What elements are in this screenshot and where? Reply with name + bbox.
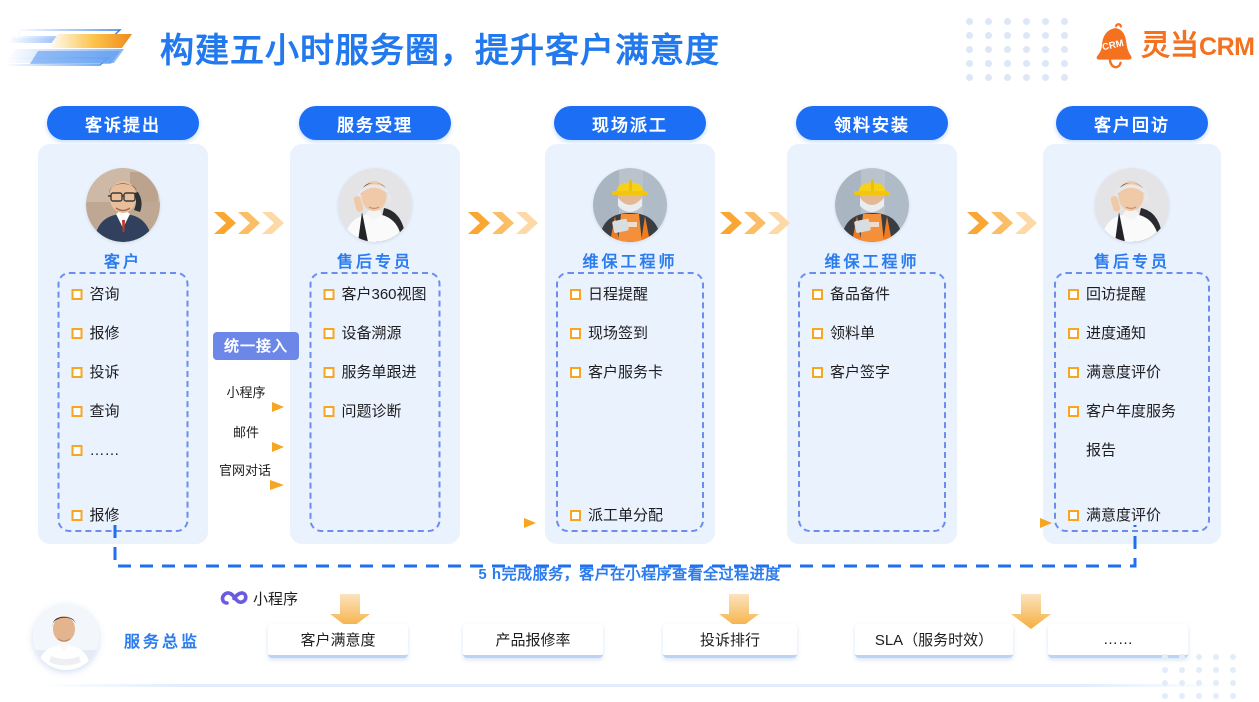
avatar-support-agent-2: [1095, 168, 1169, 242]
checkbox-icon: [1068, 328, 1079, 339]
column-panel-4: 维保工程师 备品备件 领料单 客户签字: [787, 144, 957, 544]
checkbox-icon: [324, 328, 335, 339]
bottom-divider: [40, 684, 1220, 687]
stage-title-2[interactable]: 服务受理: [299, 106, 451, 140]
list-item-bottom[interactable]: 满意度评价: [1068, 506, 1161, 526]
kpi-metric-1[interactable]: 客户满意度: [268, 624, 408, 658]
bell-crm-icon: CRM: [1093, 23, 1137, 69]
avatar-customer: [86, 168, 160, 242]
dot-grid-decoration-bottom: [1162, 654, 1259, 702]
channel-label: 邮件: [220, 422, 272, 441]
list-item[interactable]: ……: [72, 441, 120, 461]
list-item-label: 日程提醒: [588, 285, 648, 305]
task-list-box-5: 回访提醒 进度通知 满意度评价 客户年度服务 报告 满意度评价: [1054, 272, 1210, 532]
list-item-label: 进度通知: [1086, 324, 1146, 344]
flow-column-3: 现场派工: [545, 100, 715, 140]
column-panel-1: 客户 咨询 报修 投诉 查询 …… 报修: [38, 144, 208, 544]
page-header: 构建五小时服务圈，提升客户满意度 CRM 灵当CRM: [0, 0, 1259, 96]
avatar-service-director: [33, 604, 99, 670]
checkbox-icon: [812, 367, 823, 378]
list-item[interactable]: 问题诊断: [324, 402, 402, 422]
role-label-3: 维保工程师: [545, 248, 715, 272]
list-item-label: 满意度评价: [1086, 506, 1161, 526]
kpi-metric-3[interactable]: 投诉排行: [663, 624, 797, 658]
flow-column-5: 客户回访: [1043, 100, 1221, 140]
task-list-box-2: 客户360视图 设备溯源 服务单跟进 问题诊断: [310, 272, 441, 532]
decorative-stripes: [8, 18, 148, 78]
checkbox-icon: [324, 289, 335, 300]
channel-3: 官网对话: [206, 460, 286, 491]
list-item-label: 设备溯源: [342, 324, 402, 344]
list-item[interactable]: 客户服务卡: [570, 363, 663, 383]
list-item-label: 问题诊断: [342, 402, 402, 422]
checkbox-icon: [72, 510, 83, 521]
checkbox-icon: [1068, 289, 1079, 300]
list-item-label: 派工单分配: [588, 506, 663, 526]
list-item-label: 满意度评价: [1086, 363, 1161, 383]
list-item[interactable]: 备品备件: [812, 285, 890, 305]
checkbox-icon: [812, 289, 823, 300]
list-item-label: 投诉: [90, 363, 120, 383]
list-item[interactable]: 客户年度服务: [1068, 402, 1176, 422]
list-item[interactable]: 投诉: [72, 363, 120, 383]
channel-label: 小程序: [214, 382, 278, 401]
stage-title-3[interactable]: 现场派工: [554, 106, 706, 140]
checkbox-icon: [72, 445, 83, 456]
stage-title-5[interactable]: 客户回访: [1056, 106, 1208, 140]
page-title: 构建五小时服务圈，提升客户满意度: [160, 23, 720, 72]
chevron-group-4: [965, 210, 1043, 236]
checkbox-icon: [812, 328, 823, 339]
list-item[interactable]: 客户360视图: [324, 285, 427, 305]
chevron-group-1: [212, 210, 290, 236]
column-panel-5: 售后专员 回访提醒 进度通知 满意度评价 客户年度服务 报告 满意度评价: [1043, 144, 1221, 544]
list-item-label: 查询: [90, 402, 120, 422]
process-flow: 客诉提出: [0, 100, 1259, 550]
role-label-5: 售后专员: [1043, 248, 1221, 272]
checkbox-icon: [72, 328, 83, 339]
list-item-label: 客户服务卡: [588, 363, 663, 383]
role-label-1: 客户: [38, 248, 208, 272]
list-item-label: 领料单: [830, 324, 875, 344]
list-item-label: 报修: [90, 324, 120, 344]
list-item[interactable]: 满意度评价: [1068, 363, 1161, 383]
list-item-label: 客户年度服务: [1086, 402, 1176, 422]
list-item-label: 现场签到: [588, 324, 648, 344]
task-list-box-1: 咨询 报修 投诉 查询 …… 报修: [58, 272, 189, 532]
flow-column-2: 服务受理: [290, 100, 460, 140]
list-item-label: 客户签字: [830, 363, 890, 383]
down-arrow-3: [1009, 594, 1053, 630]
channel-label: 官网对话: [206, 460, 284, 479]
checkbox-icon: [570, 367, 581, 378]
column-panel-2: 售后专员 客户360视图 设备溯源 服务单跟进 问题诊断: [290, 144, 460, 544]
task-list-box-3: 日程提醒 现场签到 客户服务卡 派工单分配: [556, 272, 704, 532]
list-item-label: 回访提醒: [1086, 285, 1146, 305]
checkbox-icon: [324, 406, 335, 417]
checkbox-icon: [1068, 510, 1079, 521]
avatar-field-engineer-2: [835, 168, 909, 242]
list-item-bottom[interactable]: 报修: [72, 506, 120, 526]
list-item[interactable]: 服务单跟进: [324, 363, 417, 383]
kpi-metric-2[interactable]: 产品报修率: [463, 624, 603, 658]
checkbox-icon: [570, 510, 581, 521]
list-item[interactable]: 查询: [72, 402, 120, 422]
list-item[interactable]: 客户签字: [812, 363, 890, 383]
brand-cn: 灵当: [1141, 30, 1199, 62]
checkbox-icon: [1068, 406, 1079, 417]
list-item-label: 客户360视图: [342, 285, 427, 305]
kpi-metric-4[interactable]: SLA（服务时效）: [855, 624, 1013, 658]
list-item-label: 报告: [1086, 441, 1116, 461]
chevron-group-2: [466, 210, 544, 236]
list-item[interactable]: 咨询: [72, 285, 120, 305]
channel-2: 邮件: [220, 422, 286, 453]
role-label-4: 维保工程师: [787, 248, 957, 272]
list-item-label: 咨询: [90, 285, 120, 305]
role-label-2: 售后专员: [290, 248, 460, 272]
list-item[interactable]: 日程提醒: [570, 285, 648, 305]
checkbox-icon: [1068, 367, 1079, 378]
list-item-label: ……: [90, 441, 120, 461]
dot-grid-decoration: [966, 18, 1086, 84]
kpi-metric-5[interactable]: ……: [1048, 624, 1188, 658]
list-item-label: 报修: [90, 506, 120, 526]
brand-en: CRM: [1199, 33, 1254, 61]
task-list-box-4: 备品备件 领料单 客户签字: [798, 272, 946, 532]
checkbox-icon: [324, 367, 335, 378]
flow-column-4: 领料安装: [787, 100, 957, 140]
checkbox-icon: [72, 289, 83, 300]
list-item[interactable]: 报修: [72, 324, 120, 344]
list-item[interactable]: 现场签到: [570, 324, 648, 344]
stage-title-1[interactable]: 客诉提出: [47, 106, 199, 140]
list-item-continuation: 报告: [1086, 441, 1116, 461]
list-item[interactable]: 回访提醒: [1068, 285, 1146, 305]
column-panel-3: 维保工程师 日程提醒 现场签到 客户服务卡 派工单分配: [545, 144, 715, 544]
list-item-bottom[interactable]: 派工单分配: [570, 506, 663, 526]
brand-wordmark: 灵当CRM: [1141, 32, 1254, 61]
brand-logo: CRM 灵当CRM: [1093, 22, 1254, 70]
summary-caption: 5 h完成服务，客户在小程序查看全过程进度: [0, 563, 1259, 584]
avatar-support-agent: [338, 168, 412, 242]
chevron-group-3: [718, 210, 796, 236]
list-item-label: 服务单跟进: [342, 363, 417, 383]
checkbox-icon: [570, 328, 581, 339]
stage-title-4[interactable]: 领料安装: [796, 106, 948, 140]
avatar-field-engineer: [593, 168, 667, 242]
flow-column-1: 客诉提出: [38, 100, 208, 140]
channel-1: 小程序: [214, 382, 286, 413]
checkbox-icon: [570, 289, 581, 300]
list-item-label: 备品备件: [830, 285, 890, 305]
list-item[interactable]: 领料单: [812, 324, 875, 344]
checkbox-icon: [72, 406, 83, 417]
list-item[interactable]: 设备溯源: [324, 324, 402, 344]
gateway-badge[interactable]: 统一接入: [213, 332, 299, 360]
service-director-label: 服务总监: [124, 628, 200, 652]
checkbox-icon: [72, 367, 83, 378]
list-item[interactable]: 进度通知: [1068, 324, 1146, 344]
